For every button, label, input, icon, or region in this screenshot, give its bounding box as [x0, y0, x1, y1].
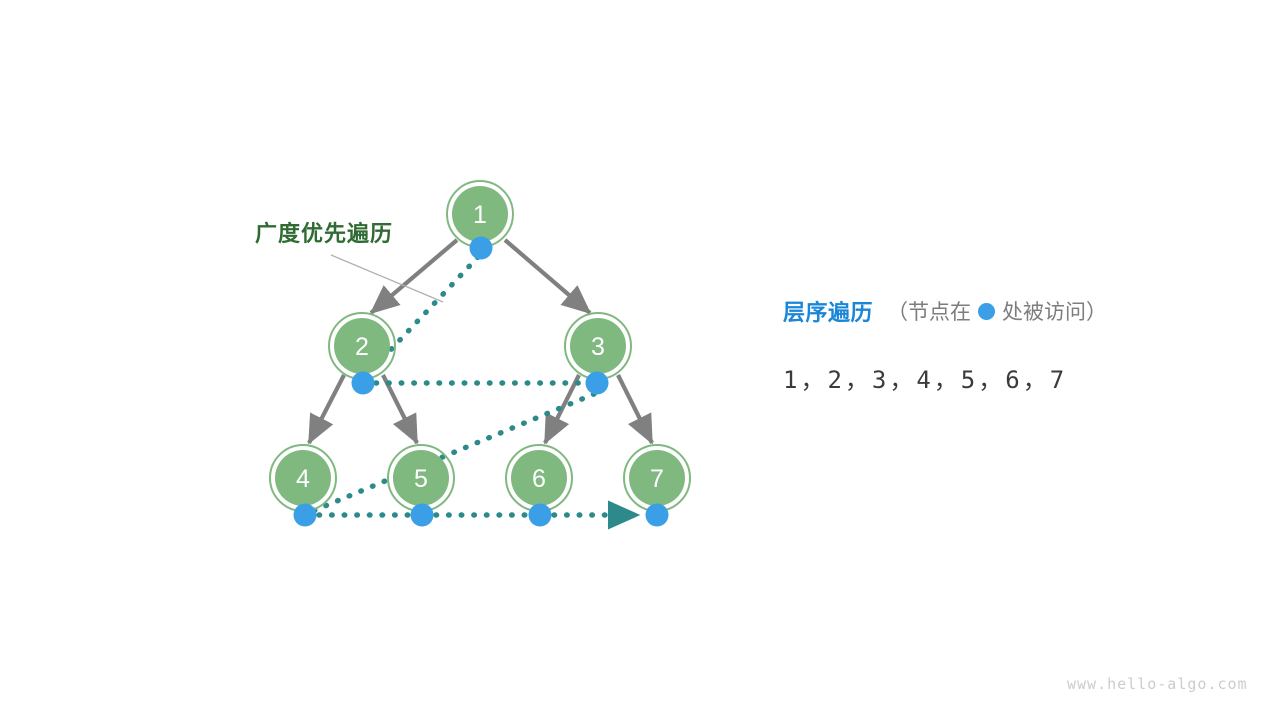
- edge-1-3: [505, 240, 590, 313]
- traversal-sequence: 1，2，3，4，5，6，7: [783, 360, 1067, 395]
- visit-dot-icon-node-4[interactable]: [294, 504, 317, 527]
- visit-dot-icon-node-7[interactable]: [646, 504, 669, 527]
- visit-dot-icon-node-6[interactable]: [529, 504, 552, 527]
- legend-panel: 层序遍历 （节点在 处被访问）: [783, 296, 1243, 326]
- legend-note-suffix: 处被访问）: [1002, 296, 1107, 326]
- edge-2-4: [309, 375, 344, 443]
- tree-node-5[interactable]: 5: [388, 445, 454, 511]
- legend-title: 层序遍历: [783, 295, 873, 327]
- binary-tree-diagram: 1 2 3 4 5: [0, 0, 1280, 720]
- edge-3-7: [618, 375, 652, 443]
- figure-canvas: 1 2 3 4 5: [0, 0, 1280, 720]
- tree-node-7[interactable]: 7: [624, 445, 690, 511]
- bfs-label-leader-line: [331, 255, 443, 302]
- visit-markers: [294, 237, 669, 527]
- tree-node-2[interactable]: 2: [329, 313, 395, 379]
- node-label: 3: [591, 333, 605, 361]
- node-label: 4: [296, 465, 310, 493]
- tree-node-4[interactable]: 4: [270, 445, 336, 511]
- node-label: 1: [473, 201, 487, 229]
- node-label: 7: [650, 465, 664, 493]
- node-label: 2: [355, 333, 369, 361]
- node-label: 5: [414, 465, 428, 493]
- edge-3-6: [545, 375, 579, 443]
- blue-dot-icon: [978, 303, 995, 320]
- tree-node-3[interactable]: 3: [565, 313, 631, 379]
- node-label: 6: [532, 465, 546, 493]
- visit-dot-icon-node-3[interactable]: [586, 372, 609, 395]
- site-watermark: www.hello-algo.com: [1067, 675, 1248, 693]
- tree-node-6[interactable]: 6: [506, 445, 572, 511]
- bfs-annotation-label: 广度优先遍历: [255, 216, 393, 248]
- legend-note: （节点在 处被访问）: [887, 296, 1107, 326]
- legend-note-prefix: （节点在: [887, 296, 971, 326]
- visit-dot-icon-node-1[interactable]: [470, 237, 493, 260]
- visit-dot-icon-node-2[interactable]: [352, 372, 375, 395]
- legend-heading-row: 层序遍历 （节点在 处被访问）: [783, 296, 1243, 326]
- visit-dot-icon-node-5[interactable]: [411, 504, 434, 527]
